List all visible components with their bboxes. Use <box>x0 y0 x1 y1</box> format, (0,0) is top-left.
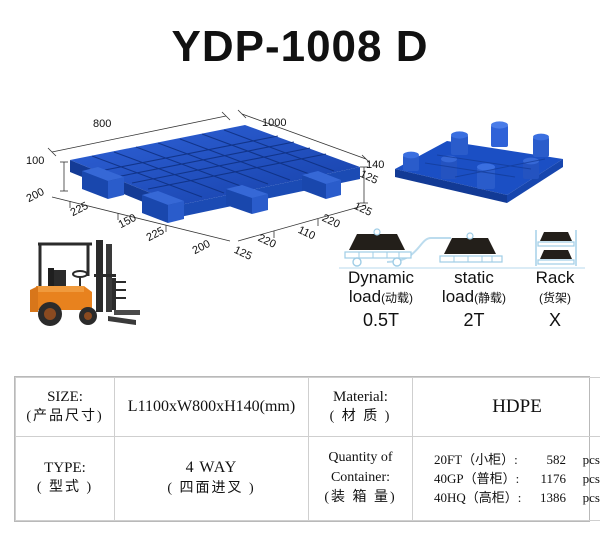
size-label-en: SIZE: <box>20 387 110 407</box>
rack-load-block: Rack (货架) X <box>520 228 590 331</box>
list-item: 40HQ（高柜）:1386pcs <box>434 488 600 507</box>
size-label-cn: (产品尺寸) <box>20 407 110 427</box>
material-value-cell: HDPE <box>413 378 600 437</box>
rack-load-cn: (货架) <box>539 291 571 305</box>
material-label-cell: Material: ( 材 质 ) <box>309 378 413 437</box>
static-load-icon <box>430 228 518 268</box>
dimension-100: 100 <box>26 155 44 167</box>
dimension-1000: 1000 <box>262 117 286 129</box>
list-item: 40GP（普柜）:1176pcs <box>434 469 600 488</box>
table-row-type-quantity: TYPE: ( 型式 ) 4 WAY ( 四面进叉 ) Quantity of … <box>16 436 600 521</box>
container-type-40gp: 40GP（普柜）: <box>434 469 520 488</box>
material-label-en: Material: <box>313 387 408 407</box>
container-count-40gp: 1176 <box>520 469 566 488</box>
static-load-block: static load(静载) 2T <box>430 228 518 331</box>
material-label-cn: ( 材 质 ) <box>313 407 408 427</box>
specification-table: SIZE: (产品尺寸) L1100xW800xH140(mm) Materia… <box>14 376 590 522</box>
container-quantity-list: 20FT（小柜）:582pcs 40GP（普柜）:1176pcs 40HQ（高柜… <box>434 450 600 507</box>
rack-load-line1: Rack <box>520 268 590 287</box>
rack-load-value: X <box>520 309 590 331</box>
page-title: YDP-1008 D <box>0 22 600 72</box>
dimension-140: 140 <box>366 159 384 171</box>
quantity-label-cell: Quantity of Container: (装 箱 量) <box>309 436 413 521</box>
list-item: 20FT（小柜）:582pcs <box>434 450 600 469</box>
dynamic-load-word: load <box>349 287 381 306</box>
container-count-40hq: 1386 <box>520 488 566 507</box>
dynamic-load-value: 0.5T <box>335 309 427 331</box>
dimension-800: 800 <box>93 118 111 130</box>
type-label-en: TYPE: <box>20 458 110 478</box>
dynamic-load-icon <box>335 228 427 268</box>
quantity-label-en1: Quantity of <box>313 448 408 468</box>
dynamic-load-cn: (动载) <box>381 291 413 305</box>
size-value-cell: L1100xW800xH140(mm) <box>115 378 309 437</box>
quantity-value-cell: 20FT（小柜）:582pcs 40GP（普柜）:1176pcs 40HQ（高柜… <box>413 436 600 521</box>
rack-load-icon <box>520 228 590 268</box>
dynamic-load-line2: load(动载) <box>335 287 427 308</box>
container-unit-40hq: pcs <box>566 488 600 507</box>
dynamic-load-line1: Dynamic <box>335 268 427 287</box>
static-load-word: load <box>442 287 474 306</box>
quantity-label-en2: Container: <box>313 468 408 488</box>
size-label-cell: SIZE: (产品尺寸) <box>16 378 115 437</box>
static-load-value: 2T <box>430 309 518 331</box>
container-type-20ft: 20FT（小柜）: <box>434 450 520 469</box>
underside-pallet-illustration <box>385 107 575 217</box>
type-value-en: 4 WAY <box>119 459 304 477</box>
dimension-125-b1: 125 <box>232 244 254 263</box>
rack-load-line2: (货架) <box>520 287 590 308</box>
container-unit-40gp: pcs <box>566 469 600 488</box>
forklift-illustration <box>22 230 142 335</box>
container-unit-20ft: pcs <box>566 450 600 469</box>
container-type-40hq: 40HQ（高柜）: <box>434 488 520 507</box>
table-row-size-material: SIZE: (产品尺寸) L1100xW800xH140(mm) Materia… <box>16 378 600 437</box>
quantity-label-cn: (装 箱 量) <box>313 488 408 508</box>
static-load-line2: load(静载) <box>430 287 518 308</box>
product-spec-page: YDP-1008 D <box>0 0 600 539</box>
load-capacity-group: Dynamic load(动载) 0.5T stati <box>335 228 590 340</box>
container-count-20ft: 582 <box>520 450 566 469</box>
type-value-cn: ( 四面进叉 ) <box>119 477 304 497</box>
type-label-cn: ( 型式 ) <box>20 478 110 498</box>
static-load-cn: (静载) <box>474 291 506 305</box>
static-load-line1: static <box>430 268 518 287</box>
type-value-cell: 4 WAY ( 四面进叉 ) <box>115 436 309 521</box>
type-label-cell: TYPE: ( 型式 ) <box>16 436 115 521</box>
dynamic-load-block: Dynamic load(动载) 0.5T <box>335 228 427 331</box>
